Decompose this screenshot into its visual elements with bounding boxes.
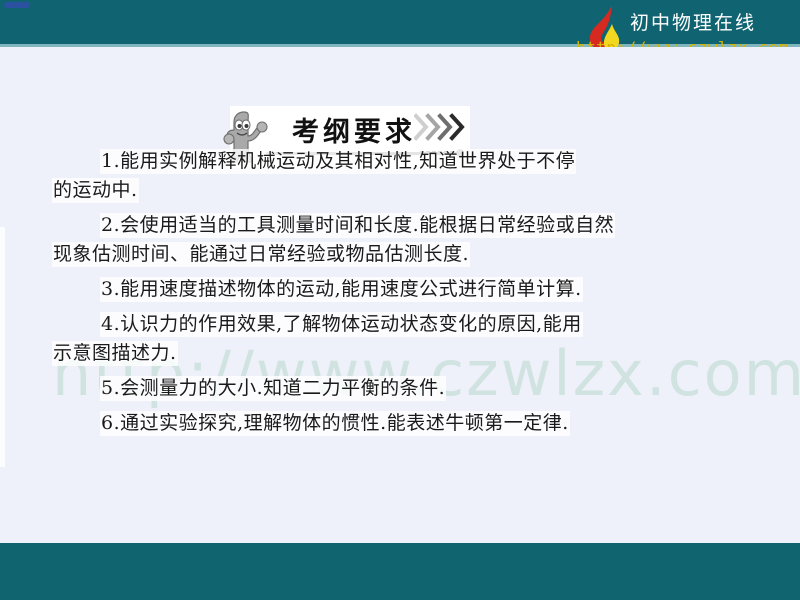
site-logo-name: 初中物理在线 [630,8,756,35]
requirement-line: 现象估测时间、能通过日常经验或物品估测长度. [0,240,800,269]
heading-dot-row [420,140,464,146]
requirement-line: 6.通过实验探究,理解物体的惯性.能表述牛顿第一定律. [0,409,800,438]
requirement-line: 3.能用速度描述物体的运动,能用速度公式进行简单计算. [0,275,800,304]
list-item: 1.能用实例解释机械运动及其相对性,知道世界处于不停 的运动中. [0,147,800,205]
slide-root: 初中物理在线 http://www.czwlzx.com http://www.… [0,0,800,600]
requirement-list: 1.能用实例解释机械运动及其相对性,知道世界处于不停 的运动中. 2.会使用适当… [0,147,800,444]
list-item: 4.认识力的作用效果,了解物体运动状态变化的原因,能用 示意图描述力. [0,310,800,368]
list-item: 3.能用速度描述物体的运动,能用速度公式进行简单计算. [0,275,800,304]
section-heading-title: 考纲要求 [292,110,416,149]
requirement-line: 示意图描述力. [0,339,800,368]
requirement-line: 1.能用实例解释机械运动及其相对性,知道世界处于不停 [0,147,800,176]
content-panel: http://www.czwlzx.com 考纲要求 [0,47,800,543]
requirement-line: 2.会使用适当的工具测量时间和长度.能根据日常经验或自然 [0,211,800,240]
list-item: 6.通过实验探究,理解物体的惯性.能表述牛顿第一定律. [0,409,800,438]
requirement-line: 5.会测量力的大小.知道二力平衡的条件. [0,374,800,403]
requirement-line: 的运动中. [0,176,800,205]
double-chevron-right-icon [414,112,470,142]
list-item: 5.会测量力的大小.知道二力平衡的条件. [0,374,800,403]
list-item: 2.会使用适当的工具测量时间和长度.能根据日常经验或自然 现象估测时间、能通过日… [0,211,800,269]
requirement-line: 4.认识力的作用效果,了解物体运动状态变化的原因,能用 [0,310,800,339]
corner-marker [4,2,30,8]
